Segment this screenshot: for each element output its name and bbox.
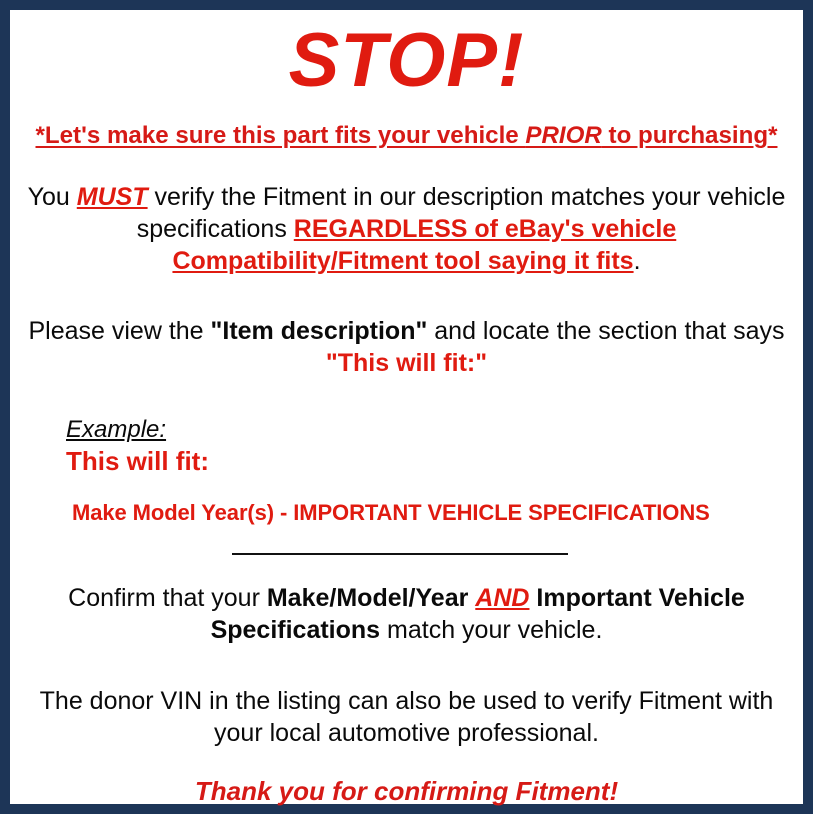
subtitle-prefix: *Let's make sure this part fits your veh…: [35, 122, 525, 149]
example-label: Example:: [66, 417, 793, 444]
must-seg5: .: [634, 247, 641, 275]
example-block: Example: This will fit: Make Model Year(…: [20, 417, 793, 526]
must-seg1: You: [28, 183, 77, 211]
paragraph-donor-vin: The donor VIN in the listing can also be…: [20, 685, 793, 750]
confirm-seg5: match your vehicle.: [380, 616, 602, 644]
divider: [20, 553, 793, 556]
paragraph-confirm: Confirm that your Make/Model/Year AND Im…: [20, 582, 793, 647]
confirm-make-model-year: Make/Model/Year: [267, 584, 468, 612]
confirm-and-emphasis: AND: [475, 584, 529, 612]
subtitle-banner: *Let's make sure this part fits your veh…: [26, 123, 787, 150]
subtitle-suffix: to purchasing*: [602, 122, 778, 149]
example-this-will-fit: This will fit:: [66, 446, 793, 476]
divider-rule: [232, 553, 568, 555]
thank-you-message: Thank you for confirming Fitment!: [20, 776, 793, 807]
stop-heading: STOP!: [20, 23, 793, 99]
example-fitment-line: Make Model Year(s) - IMPORTANT VEHICLE S…: [72, 500, 793, 526]
must-emphasis: MUST: [77, 183, 148, 211]
notice-content: STOP! *Let's make sure this part fits yo…: [10, 23, 803, 817]
confirm-seg1: Confirm that your: [68, 584, 267, 612]
fitment-notice-card: STOP! *Let's make sure this part fits yo…: [0, 0, 813, 814]
subtitle-emphasis-prior: PRIOR: [525, 122, 601, 149]
item-description-quoted: "Item description": [211, 317, 428, 345]
this-will-fit-quoted: "This will fit:": [326, 349, 487, 377]
itemdesc-seg3: and locate the section that says: [427, 317, 784, 345]
paragraph-must-verify: You MUST verify the Fitment in our descr…: [20, 181, 793, 278]
paragraph-item-description: Please view the "Item description" and l…: [20, 315, 793, 380]
itemdesc-seg1: Please view the: [28, 317, 210, 345]
